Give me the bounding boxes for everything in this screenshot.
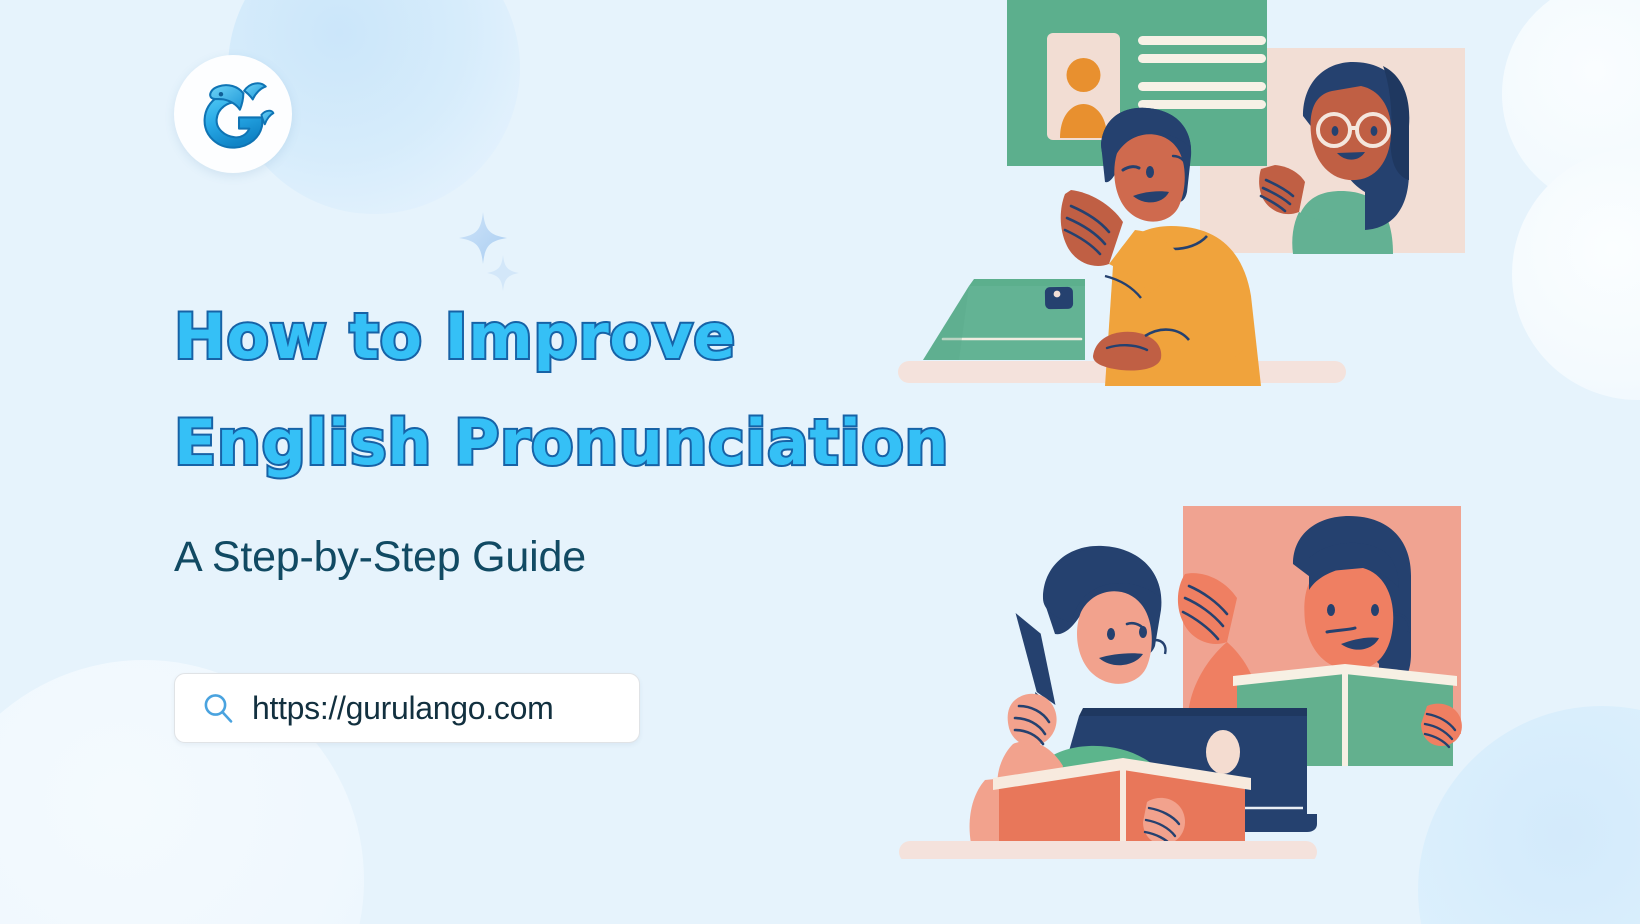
promo-banner: How to Improve English Pronunciation A S… bbox=[0, 0, 1640, 924]
url-search-bar[interactable]: https://gurulango.com bbox=[174, 673, 640, 743]
dolphin-g-logo bbox=[190, 71, 276, 157]
right-top-circle bbox=[1502, 0, 1640, 210]
right-mid-circle bbox=[1512, 148, 1640, 400]
page-subtitle: A Step-by-Step Guide bbox=[174, 533, 586, 582]
brand-logo[interactable] bbox=[174, 55, 292, 173]
green-tablet bbox=[923, 279, 1085, 360]
search-icon bbox=[201, 691, 235, 725]
page-title: How to Improve English Pronunciation bbox=[174, 284, 964, 496]
sparkle-star-large bbox=[450, 208, 512, 270]
illustration-video-call-student-waving bbox=[895, 0, 1465, 392]
headline-line-2: English Pronunciation bbox=[174, 390, 964, 496]
search-input[interactable]: https://gurulango.com bbox=[252, 690, 553, 727]
headline-line-1: How to Improve bbox=[174, 284, 964, 390]
illustration-student-reading-with-teacher bbox=[893, 494, 1471, 859]
pink-desk bbox=[899, 841, 1317, 859]
